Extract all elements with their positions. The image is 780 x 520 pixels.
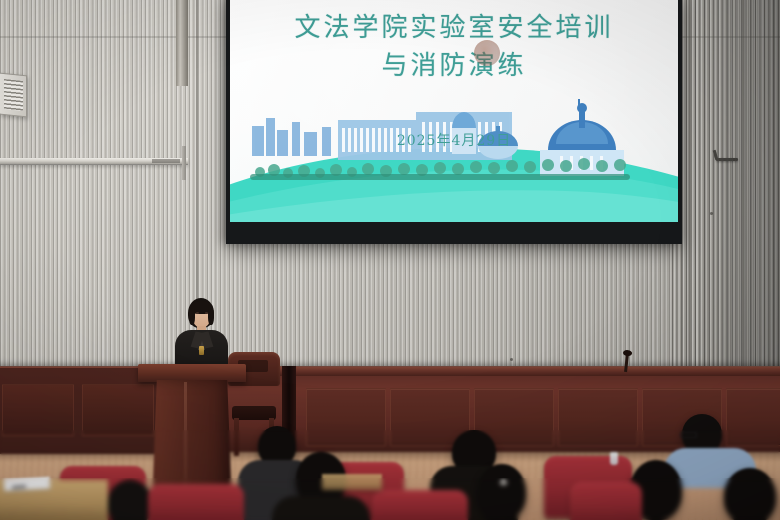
- attendee-head: [724, 468, 776, 520]
- auditorium-seat: [570, 482, 642, 520]
- rail-bracket: [182, 146, 186, 180]
- lecture-hall-photo: 文法学院实验室安全培训 与消防演练 2025年4月29日: [0, 0, 780, 520]
- auditorium-seat: [372, 490, 468, 520]
- audience: [0, 408, 780, 520]
- attendee-head: [478, 464, 526, 520]
- slide-title: 文法学院实验室安全培训 与消防演练: [230, 10, 678, 85]
- auditorium-seat: [148, 484, 244, 520]
- screen-surface: 文法学院实验室安全培训 与消防演练 2025年4月29日: [230, 0, 678, 222]
- vent-louvers: [4, 79, 23, 111]
- water-bottle: [610, 452, 618, 465]
- wall-hook-icon: [716, 158, 738, 161]
- slide-date: 2025年4月29日: [230, 130, 678, 150]
- dais-post: [176, 0, 188, 86]
- slide-title-line-2: 与消防演练: [230, 48, 678, 86]
- attendee-shoulders: [272, 496, 370, 520]
- presenter-eye: [205, 312, 208, 314]
- attendee-hair-tie: [500, 480, 507, 485]
- handout-paper: [4, 477, 51, 491]
- podium-top: [138, 364, 246, 382]
- wall-fixture-dot: [710, 212, 713, 215]
- presenter-hair-side: [208, 306, 214, 325]
- attendee-glasses: [680, 432, 697, 438]
- front-desk: [322, 474, 382, 490]
- wall-vent-icon: [0, 73, 27, 118]
- presenter-eye: [196, 312, 199, 314]
- presentation-slide: 文法学院实验室安全培训 与消防演练 2025年4月29日: [230, 0, 678, 222]
- projection-screen: 文法学院实验室安全培训 与消防演练 2025年4月29日: [226, 0, 682, 244]
- presenter-badge: [199, 346, 204, 355]
- dais-emblem: [474, 40, 500, 66]
- rail-logo: [152, 159, 180, 163]
- presenter-hair-side: [189, 306, 195, 325]
- slide-title-line-1: 文法学院实验室安全培训: [294, 13, 613, 43]
- attendee-head: [108, 480, 152, 520]
- wall-fixture-dot: [510, 358, 513, 361]
